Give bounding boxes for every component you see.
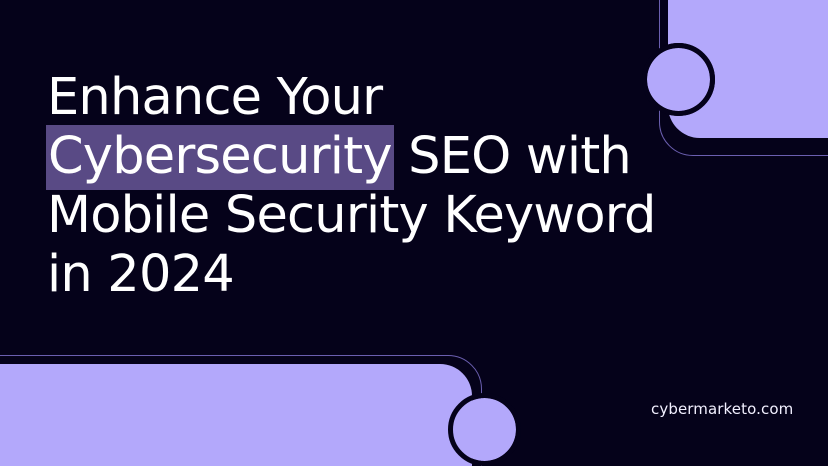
headline-text-in-2024: in 2024 [47, 245, 234, 304]
headline-text-mobile-security-keyword: Mobile Security Keyword [47, 186, 656, 245]
headline-line-4: in 2024 [47, 245, 647, 304]
headline-line-3: Mobile Security Keyword [47, 186, 647, 245]
footer-website-url: cybermarketo.com [651, 400, 793, 418]
headline-text-seo-with: SEO with [393, 127, 631, 186]
headline-highlight-cybersecurity: Cybersecurity [46, 125, 394, 190]
headline-line-1: Enhance Your [47, 68, 647, 127]
headline-line-2: Cybersecurity SEO with [47, 127, 647, 186]
bottom-left-circle-shape [453, 398, 516, 461]
top-right-circle-shape [647, 48, 710, 111]
social-graphic-canvas: Enhance Your Cybersecurity SEO with Mobi… [0, 0, 828, 466]
bottom-left-rounded-rect-shape [0, 364, 472, 466]
headline-text-enhance-your: Enhance Your [47, 68, 382, 127]
headline: Enhance Your Cybersecurity SEO with Mobi… [47, 68, 647, 304]
